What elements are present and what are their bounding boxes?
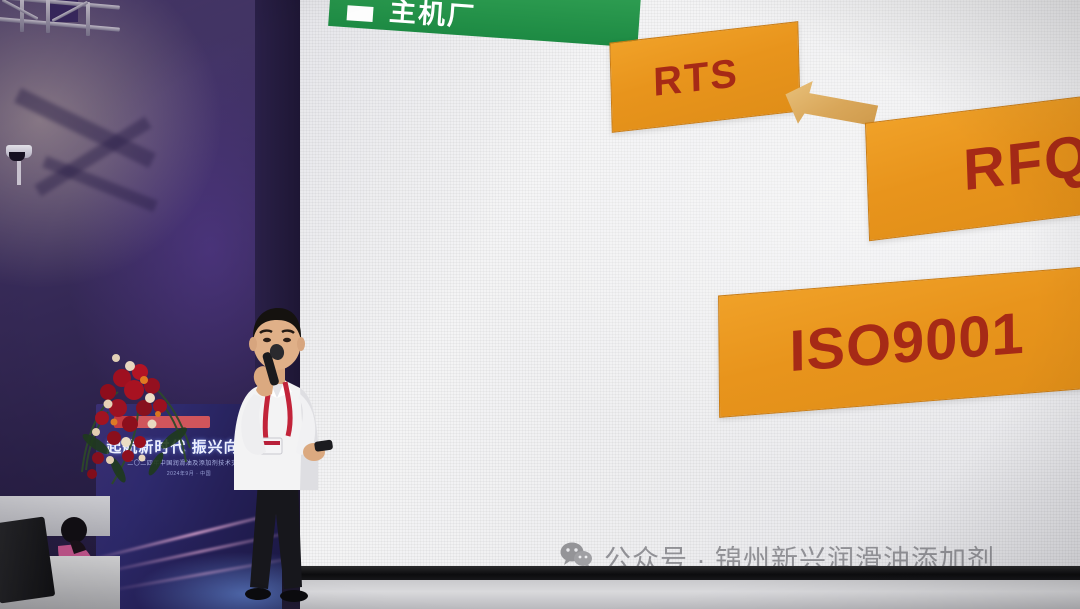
led-screen-bottom-frame bbox=[300, 566, 1080, 580]
slide-banner-label: 主机厂 bbox=[388, 0, 477, 31]
slide-tag-label: RTS bbox=[653, 51, 740, 106]
slide-tag-label: ISO9001 bbox=[789, 299, 1025, 385]
flower-arrangement bbox=[78, 352, 198, 487]
screenshot-root: 主机厂 RTS RFQ ISO9001 bbox=[0, 0, 1080, 609]
ceiling-camera-icon bbox=[6, 145, 32, 165]
slide-tag-label: RFQ bbox=[962, 121, 1080, 204]
truss-rig bbox=[0, 0, 120, 50]
white-square-bullet-icon bbox=[347, 5, 374, 22]
speaker-person bbox=[214, 302, 344, 609]
